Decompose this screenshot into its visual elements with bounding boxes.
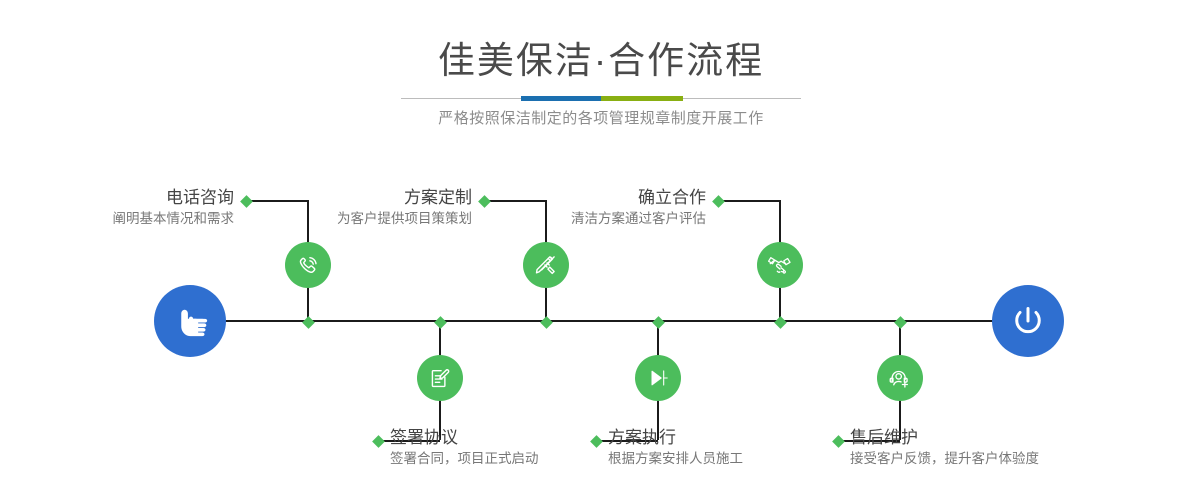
- label-diamond-marker: [372, 435, 385, 448]
- axis-diamond-marker: [652, 316, 665, 329]
- handshake-icon[interactable]: [757, 242, 803, 288]
- node-title: 签署协议: [390, 427, 539, 449]
- document-edit-icon[interactable]: [417, 355, 463, 401]
- phone-call-icon[interactable]: [285, 242, 331, 288]
- node-title: 售后维护: [850, 427, 1039, 449]
- title-divider: [401, 96, 801, 101]
- pencil-ruler-icon[interactable]: [523, 242, 569, 288]
- node-description: 签署合同，项目正式启动: [390, 449, 539, 469]
- header: 佳美保洁·合作流程 严格按照保洁制定的各项管理规章制度开展工作: [0, 0, 1202, 150]
- axis-diamond-marker: [434, 316, 447, 329]
- node-label: 签署协议签署合同，项目正式启动: [390, 427, 539, 469]
- play-skip-icon[interactable]: [635, 355, 681, 401]
- axis-diamond-marker: [302, 316, 315, 329]
- timeline-start-marker: [154, 285, 226, 357]
- node-title: 方案执行: [608, 427, 743, 449]
- node-label: 确立合作清洁方案通过客户评估: [306, 187, 706, 229]
- axis-diamond-marker: [894, 316, 907, 329]
- process-flow-infographic: 佳美保洁·合作流程 严格按照保洁制定的各项管理规章制度开展工作: [0, 0, 1202, 502]
- node-lead-line: [718, 200, 780, 202]
- axis-diamond-marker: [774, 316, 787, 329]
- support-agent-add-icon[interactable]: [877, 355, 923, 401]
- node-label: 方案执行根据方案安排人员施工: [608, 427, 743, 469]
- pointing-hand-icon: [170, 301, 210, 341]
- node-label: 售后维护接受客户反馈，提升客户体验度: [850, 427, 1039, 469]
- label-diamond-marker: [832, 435, 845, 448]
- page-title: 佳美保洁·合作流程: [0, 38, 1202, 84]
- page-subtitle: 严格按照保洁制定的各项管理规章制度开展工作: [0, 108, 1202, 130]
- power-icon: [1008, 301, 1048, 341]
- timeline-axis: [160, 320, 1040, 322]
- label-diamond-marker: [590, 435, 603, 448]
- label-diamond-marker: [712, 195, 725, 208]
- node-description: 清洁方案通过客户评估: [306, 209, 706, 229]
- divider-segment-green: [601, 96, 683, 101]
- node-description: 接受客户反馈，提升客户体验度: [850, 449, 1039, 469]
- timeline: 电话咨询阐明基本情况和需求签署协议签署合同，项目正式启动方案定制为客户提供项目策…: [0, 150, 1202, 502]
- timeline-end-marker: [992, 285, 1064, 357]
- axis-diamond-marker: [540, 316, 553, 329]
- node-description: 根据方案安排人员施工: [608, 449, 743, 469]
- node-title: 确立合作: [306, 187, 706, 209]
- divider-segment-blue: [521, 96, 601, 101]
